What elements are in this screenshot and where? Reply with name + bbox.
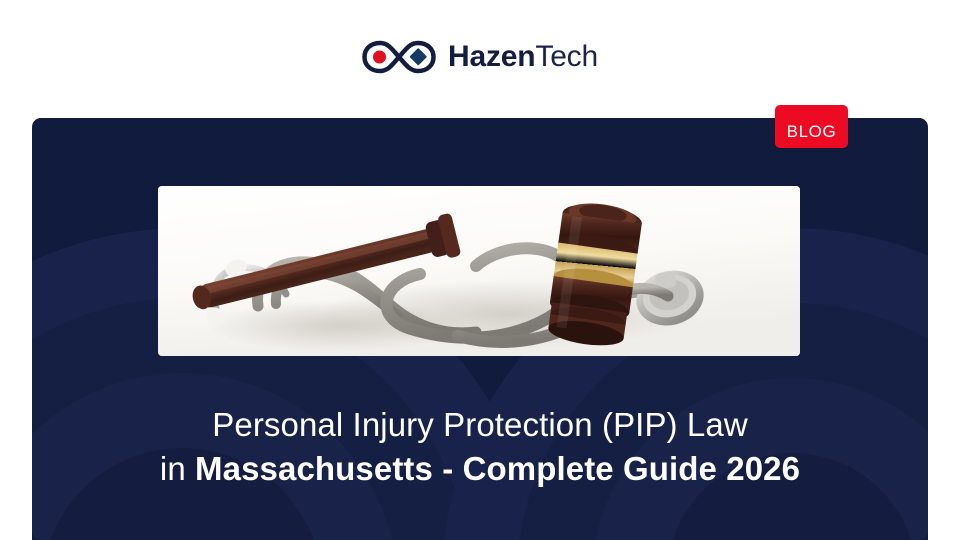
hero-title: Personal Injury Protection (PIP) Law in …: [32, 404, 928, 491]
blog-badge[interactable]: BLOG: [775, 105, 848, 148]
brand-name-light: Tech: [535, 40, 598, 73]
brand-name-strong: Hazen: [448, 40, 535, 73]
brand-logo-lockup[interactable]: HazenTech: [362, 39, 598, 75]
hero-image: [158, 186, 800, 356]
hazentech-infinity-logo-icon: [362, 39, 436, 75]
gavel-stethoscope-photo-icon: [158, 186, 800, 356]
brand-header: HazenTech: [0, 0, 960, 118]
hero-title-line-2: in Massachusetts - Complete Guide 2026: [32, 448, 928, 491]
blog-badge-label: BLOG: [787, 123, 837, 140]
hero-title-line-2-prefix: in: [160, 450, 195, 487]
hero-title-line-1: Personal Injury Protection (PIP) Law: [32, 404, 928, 447]
brand-wordmark: HazenTech: [448, 42, 598, 72]
hero-title-line-2-emphasis: Massachusetts - Complete Guide 2026: [195, 450, 800, 487]
blog-hero-page: HazenTech: [0, 0, 960, 540]
